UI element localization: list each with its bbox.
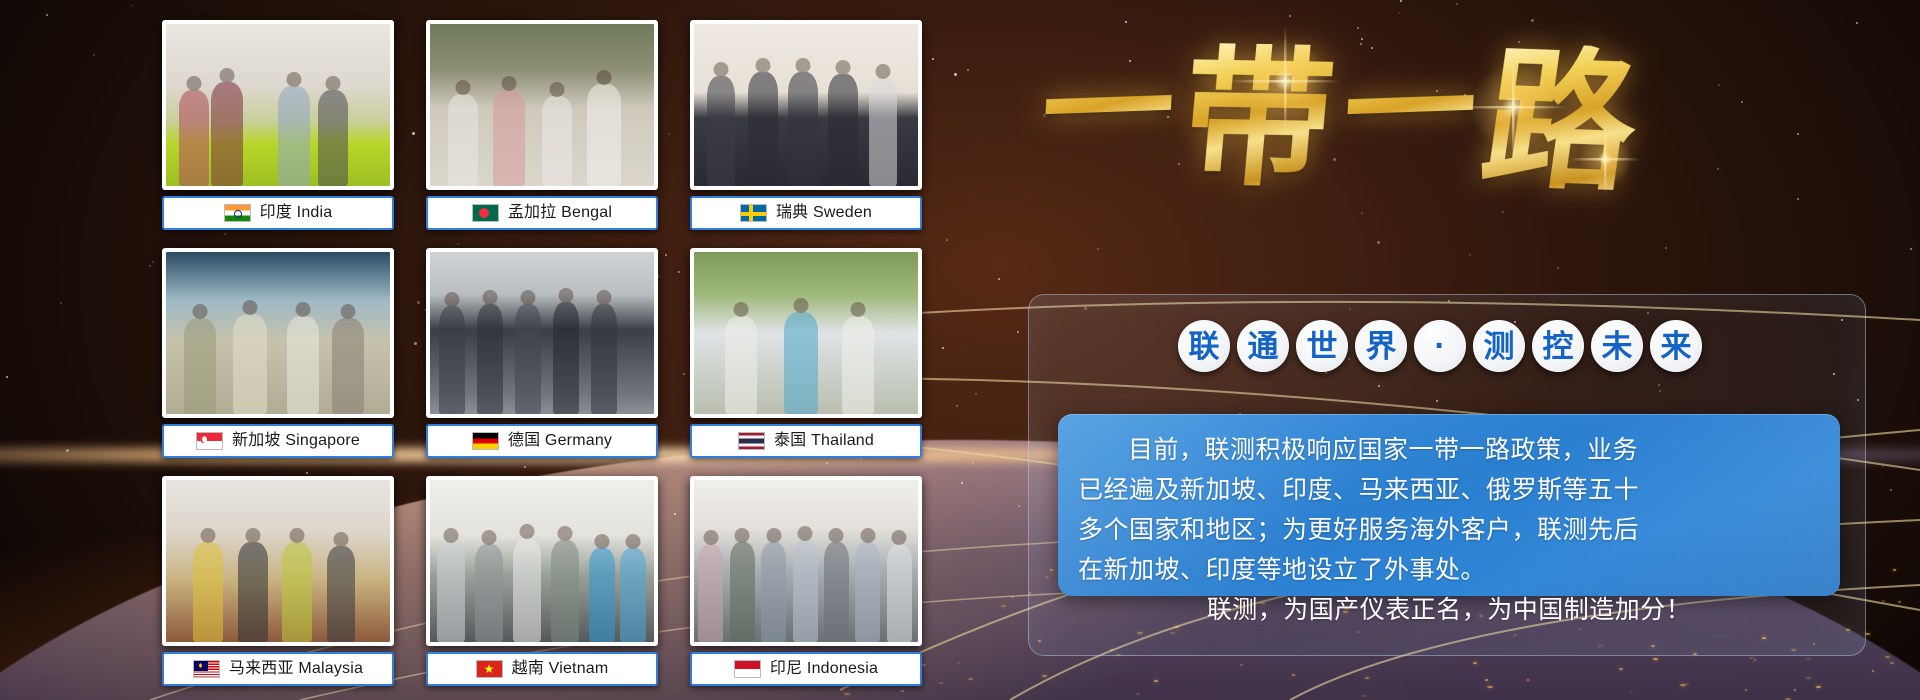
group-photo-image (430, 480, 654, 642)
photo-card[interactable]: 越南 Vietnam (426, 476, 658, 692)
people-silhouettes (694, 252, 918, 414)
slogan-chip: 界 (1355, 320, 1407, 372)
country-label-text: 印度 India (260, 205, 333, 221)
photo-frame (162, 248, 394, 418)
country-label-text: 孟加拉 Bengal (508, 205, 612, 221)
people-silhouettes (694, 480, 918, 642)
country-label-text: 印尼 Indonesia (770, 661, 878, 677)
photo-card[interactable]: 孟加拉 Bengal (426, 20, 658, 236)
country-photo-grid: 印度 India 孟加拉 Bengal (162, 20, 922, 692)
photo-frame (690, 20, 922, 190)
flag-bangladesh-icon (472, 204, 499, 222)
photo-frame (426, 20, 658, 190)
group-photo-image (430, 252, 654, 414)
photo-card[interactable]: 印尼 Indonesia (690, 476, 922, 692)
info-card: 目前，联测积极响应国家一带一路政策，业务 已经遍及新加坡、印度、马来西亚、俄罗斯… (1058, 414, 1840, 596)
country-label-singapore[interactable]: 新加坡 Singapore (162, 424, 394, 458)
photo-card[interactable]: 瑞典 Sweden (690, 20, 922, 236)
slogan-separator-dot: · (1414, 320, 1466, 372)
photo-frame (162, 476, 394, 646)
slogan-chip: 未 (1591, 320, 1643, 372)
flag-sweden-icon (740, 204, 767, 222)
slogan-chip: 世 (1296, 320, 1348, 372)
title-char-4: 路 (1474, 42, 1647, 199)
title-char-1: 一 (1038, 43, 1177, 180)
country-label-malaysia[interactable]: 马来西亚 Malaysia (162, 652, 394, 686)
flag-germany-icon (472, 432, 499, 450)
people-silhouettes (430, 24, 654, 186)
flag-thailand-icon (738, 432, 765, 450)
photo-card[interactable]: 泰国 Thailand (690, 248, 922, 464)
info-line: 联测，为国产仪表正名，为中国制造加分！ (1078, 590, 1820, 630)
country-label-text: 瑞典 Sweden (776, 205, 872, 221)
photo-card[interactable]: 新加坡 Singapore (162, 248, 394, 464)
photo-frame (162, 20, 394, 190)
flag-indonesia-icon (734, 660, 761, 678)
photo-frame (426, 476, 658, 646)
country-label-text: 越南 Vietnam (512, 661, 609, 677)
flag-vietnam-icon (476, 660, 503, 678)
group-photo-image (166, 480, 390, 642)
slogan-row: 联 通 世 界 · 测 控 未 来 (1178, 320, 1702, 372)
slogan-chip: 控 (1532, 320, 1584, 372)
country-label-text: 泰国 Thailand (774, 433, 874, 449)
belt-and-road-banner: 印度 India 孟加拉 Bengal (0, 0, 1920, 700)
photo-frame (690, 248, 922, 418)
flag-malaysia-icon (193, 660, 220, 678)
group-photo-image (694, 24, 918, 186)
group-photo-image (694, 252, 918, 414)
slogan-chip: 来 (1650, 320, 1702, 372)
people-silhouettes (166, 480, 390, 642)
photo-frame (426, 248, 658, 418)
people-silhouettes (430, 480, 654, 642)
flag-india-icon (224, 204, 251, 222)
country-label-text: 德国 Germany (508, 433, 612, 449)
info-line: 多个国家和地区；为更好服务海外客户，联测先后 (1078, 510, 1820, 550)
info-line: 目前，联测积极响应国家一带一路政策，业务 (1078, 430, 1820, 470)
country-label-indonesia[interactable]: 印尼 Indonesia (690, 652, 922, 686)
country-label-vietnam[interactable]: 越南 Vietnam (426, 652, 658, 686)
group-photo-image (166, 252, 390, 414)
country-label-text: 新加坡 Singapore (232, 433, 360, 449)
photo-card[interactable]: 马来西亚 Malaysia (162, 476, 394, 692)
gold-calligraphy-title: 一 带 一 路 (1030, 6, 1650, 216)
info-line: 已经遍及新加坡、印度、马来西亚、俄罗斯等五十 (1078, 470, 1820, 510)
country-label-india[interactable]: 印度 India (162, 196, 394, 230)
slogan-chip: 通 (1237, 320, 1289, 372)
people-silhouettes (694, 24, 918, 186)
people-silhouettes (166, 252, 390, 414)
photo-card[interactable]: 印度 India (162, 20, 394, 236)
flag-singapore-icon (196, 432, 223, 450)
photo-frame (690, 476, 922, 646)
title-char-2: 带 (1177, 43, 1340, 196)
slogan-chip: 联 (1178, 320, 1230, 372)
info-line: 在新加坡、印度等地设立了外事处。 (1078, 550, 1820, 590)
group-photo-image (430, 24, 654, 186)
group-photo-image (694, 480, 918, 642)
people-silhouettes (166, 24, 390, 186)
country-label-bangladesh[interactable]: 孟加拉 Bengal (426, 196, 658, 230)
country-label-sweden[interactable]: 瑞典 Sweden (690, 196, 922, 230)
country-label-thailand[interactable]: 泰国 Thailand (690, 424, 922, 458)
group-photo-image (166, 24, 390, 186)
title-char-3: 一 (1340, 43, 1479, 180)
country-label-text: 马来西亚 Malaysia (229, 661, 363, 677)
people-silhouettes (430, 252, 654, 414)
country-label-germany[interactable]: 德国 Germany (426, 424, 658, 458)
photo-card[interactable]: 德国 Germany (426, 248, 658, 464)
slogan-chip: 测 (1473, 320, 1525, 372)
